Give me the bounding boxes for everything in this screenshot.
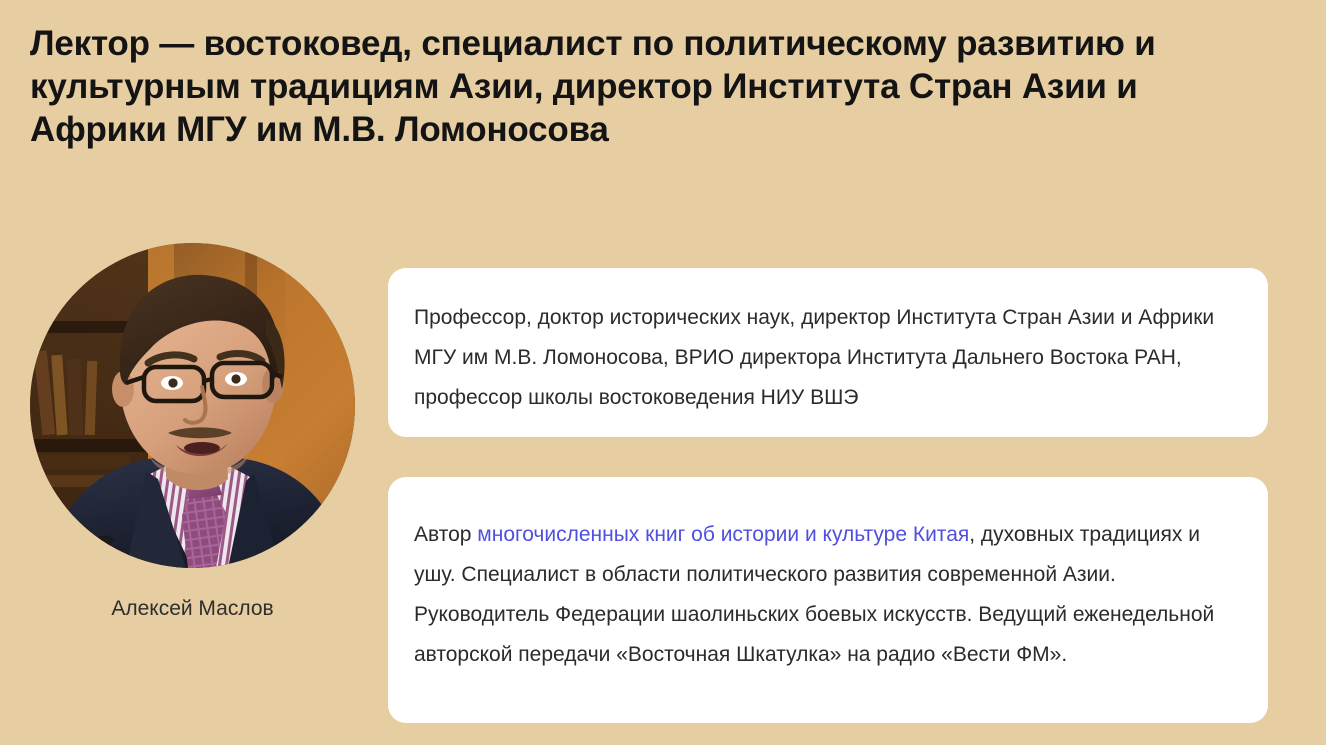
person-block: Алексей Маслов (30, 243, 355, 622)
books-about-china-link[interactable]: многочисленных книг об истории и культур… (477, 523, 969, 546)
bio-card-text: Профессор, доктор исторических наук, дир… (414, 296, 1234, 418)
about-text-prefix: Автор (414, 523, 477, 546)
page-title: Лектор — востоковед, специалист по полит… (30, 22, 1280, 151)
avatar (30, 243, 355, 568)
about-card: Автор многочисленных книг об истории и к… (388, 477, 1268, 723)
person-name-caption: Алексей Маслов (30, 596, 355, 622)
about-card-text: Автор многочисленных книг об истории и к… (414, 505, 1234, 675)
bio-card: Профессор, доктор исторических наук, дир… (388, 268, 1268, 437)
lecturer-profile-page: Лектор — востоковед, специалист по полит… (0, 0, 1326, 745)
